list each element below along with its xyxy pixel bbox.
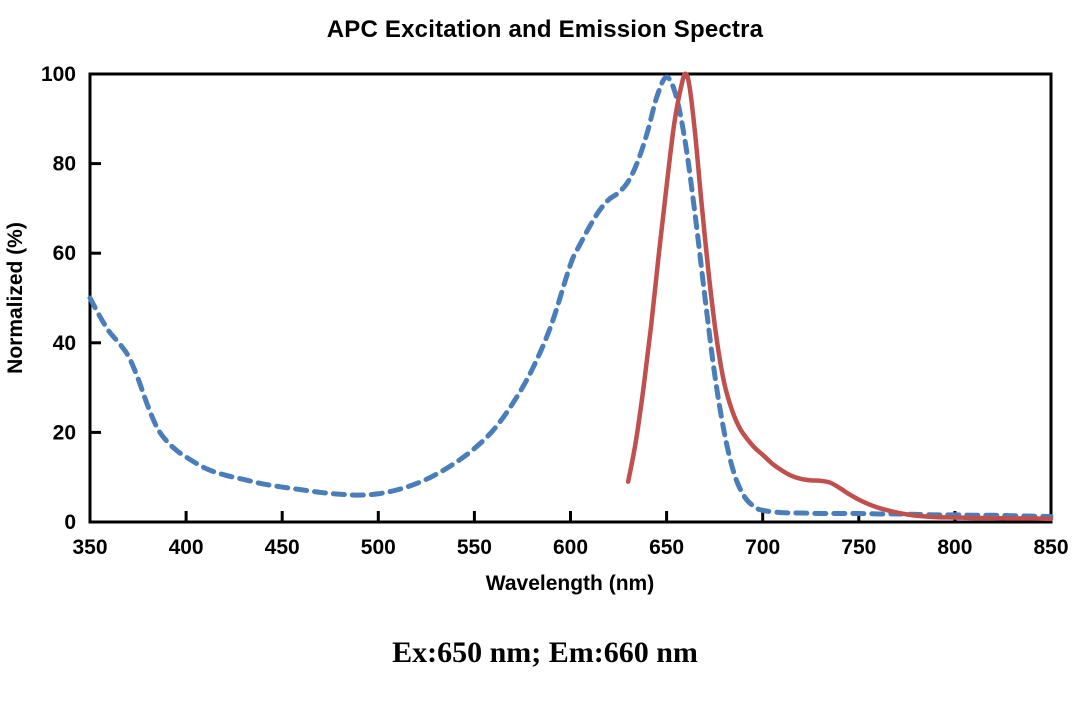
y-tick-label: 0: [64, 511, 76, 534]
x-axis-title: Wavelength (nm): [486, 572, 654, 595]
y-tick-label: 60: [53, 242, 76, 265]
x-tick-label: 350: [72, 536, 107, 559]
x-tick-label: 700: [745, 536, 780, 559]
x-tick-label: 650: [649, 536, 684, 559]
y-tick-label: 80: [53, 153, 76, 176]
y-tick-label: 20: [53, 421, 76, 444]
y-tick-label: 40: [53, 332, 76, 355]
x-tick-label: 550: [457, 536, 492, 559]
y-axis-title: Normalized (%): [4, 222, 27, 374]
x-tick-label: 400: [169, 536, 204, 559]
plot-frame: [90, 74, 1051, 522]
series-line-excitation: [90, 77, 1051, 516]
x-axis-tick-labels: 350400450500550600650700750800850: [72, 536, 1068, 559]
y-tick-label: 100: [41, 63, 76, 86]
x-tick-label: 750: [841, 536, 876, 559]
data-series-group: [90, 74, 1051, 519]
x-tick-label: 800: [937, 536, 972, 559]
spectra-figure: APC Excitation and Emission Spectra 0204…: [0, 0, 1090, 703]
y-axis-tick-labels: 020406080100: [41, 63, 76, 534]
x-tick-label: 600: [553, 536, 588, 559]
x-tick-label: 500: [361, 536, 396, 559]
figure-caption: Ex:650 nm; Em:660 nm: [0, 636, 1090, 670]
x-tick-label: 850: [1033, 536, 1068, 559]
x-tick-label: 450: [265, 536, 300, 559]
series-line-emission: [628, 74, 1051, 519]
spectra-plot: 020406080100 350400450500550600650700750…: [0, 0, 1090, 703]
